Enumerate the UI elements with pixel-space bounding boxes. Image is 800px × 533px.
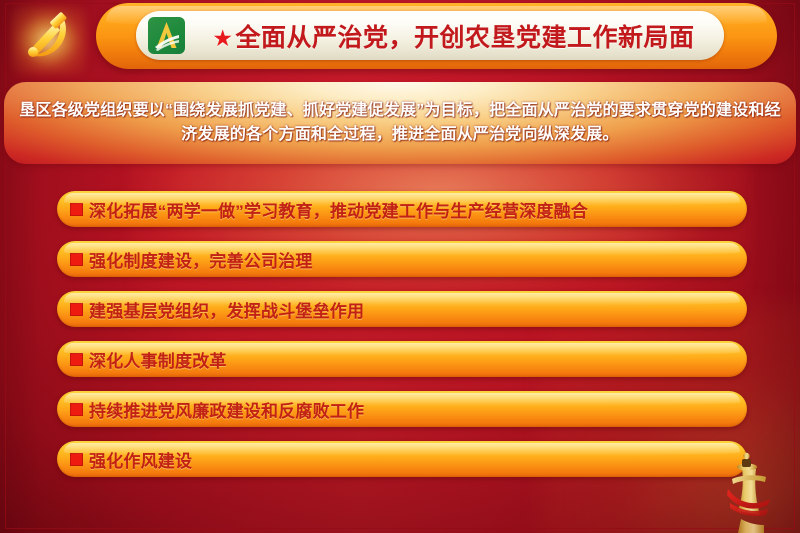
list-item-label: 强化作风建设 — [89, 447, 192, 472]
hammer-and-sickle-emblem-icon — [6, 2, 92, 78]
bullet-list: 深化拓展“两学一做”学习教育，推动党建工作与生产经营深度融合 强化制度建设，完善… — [57, 191, 747, 491]
logo-svg — [148, 17, 185, 54]
list-item-label: 深化拓展“两学一做”学习教育，推动党建工作与生产经营深度融合 — [89, 197, 588, 222]
list-item[interactable]: 强化制度建设，完善公司治理 — [57, 241, 747, 277]
page-title: ★全面从严治党，开创农垦党建工作新局面 — [199, 18, 714, 54]
list-item[interactable]: 深化拓展“两学一做”学习教育，推动党建工作与生产经营深度融合 — [57, 191, 747, 227]
list-item-label: 持续推进党风廉政建设和反腐败工作 — [89, 397, 364, 422]
square-bullet-icon — [70, 303, 83, 316]
list-item-label: 强化制度建设，完善公司治理 — [89, 247, 313, 272]
huabiao-column-icon — [708, 441, 794, 533]
list-item-label: 建强基层党组织，发挥战斗堡垒作用 — [89, 297, 364, 322]
intro-banner: 垦区各级党组织要以“围绕发展抓党建、抓好党建促发展”为目标，把全面从严治党的要求… — [4, 82, 796, 164]
hammer-and-sickle-svg — [6, 2, 92, 78]
list-item[interactable]: 强化作风建设 — [57, 441, 747, 477]
intro-text: 垦区各级党组织要以“围绕发展抓党建、抓好党建促发展”为目标，把全面从严治党的要求… — [4, 99, 796, 148]
list-item[interactable]: 深化人事制度改革 — [57, 341, 747, 377]
nongken-a-logo-icon — [148, 17, 185, 54]
square-bullet-icon — [70, 353, 83, 366]
square-bullet-icon — [70, 203, 83, 216]
list-item[interactable]: 建强基层党组织，发挥战斗堡垒作用 — [57, 291, 747, 327]
huabiao-svg — [708, 441, 794, 533]
list-item-label: 深化人事制度改革 — [89, 347, 227, 372]
page-title-text: 全面从严治党，开创农垦党建工作新局面 — [236, 24, 695, 52]
slide-root: ★全面从严治党，开创农垦党建工作新局面 垦区各级党组织要以“围绕发展抓党建、抓好… — [0, 0, 800, 533]
square-bullet-icon — [70, 253, 83, 266]
list-item[interactable]: 持续推进党风廉政建设和反腐败工作 — [57, 391, 747, 427]
square-bullet-icon — [70, 403, 83, 416]
square-bullet-icon — [70, 453, 83, 466]
header-title-pill: ★全面从严治党，开创农垦党建工作新局面 — [136, 11, 724, 60]
star-icon: ★ — [212, 25, 233, 51]
